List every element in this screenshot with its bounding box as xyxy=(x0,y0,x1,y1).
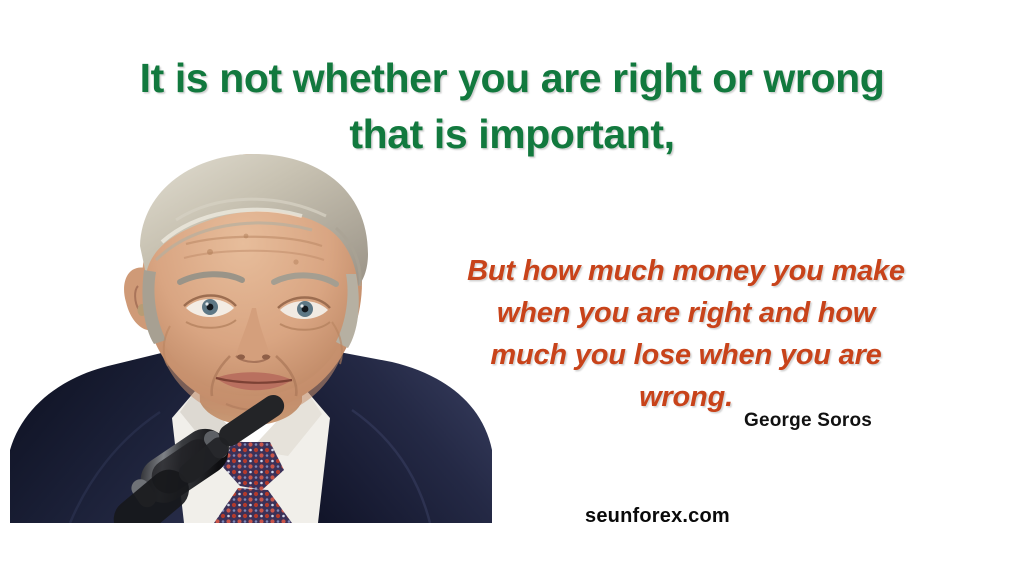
subquote-line-2: when you are right and how xyxy=(436,292,936,334)
headline-line-2: that is important, xyxy=(60,106,964,162)
portrait-photo-george-soros xyxy=(0,150,500,523)
headline-line-1: It is not whether you are right or wrong xyxy=(60,50,964,106)
quote-graphic-canvas: It is not whether you are right or wrong… xyxy=(0,0,1024,576)
quote-headline: It is not whether you are right or wrong… xyxy=(60,50,964,162)
portrait-illustration xyxy=(0,150,500,523)
subquote-line-1: But how much money you make xyxy=(436,250,936,292)
left-eye-highlight xyxy=(205,302,208,305)
nostril-left xyxy=(237,354,245,359)
subquote-line-3: much you lose when you are xyxy=(436,334,936,376)
age-spot-1 xyxy=(207,249,213,255)
age-spot-2 xyxy=(244,234,249,239)
quote-attribution: George Soros xyxy=(744,410,872,432)
quote-subtext: But how much money you make when you are… xyxy=(436,250,936,418)
right-eye-highlight xyxy=(300,304,303,307)
website-watermark: seunforex.com xyxy=(585,505,730,528)
age-spot-3 xyxy=(293,259,298,264)
nostril-right xyxy=(262,354,270,359)
